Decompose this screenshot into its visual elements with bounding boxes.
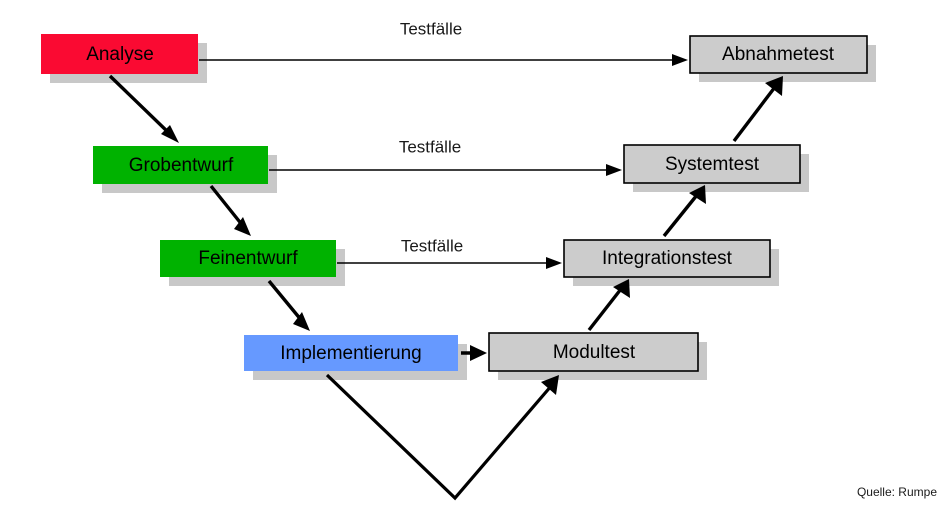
box-feinentwurf-label: Feinentwurf [198, 248, 298, 269]
edge-label-testfaelle-2: Testfälle [399, 137, 461, 156]
edge-line [664, 195, 697, 236]
box-analyse[interactable]: Analyse [41, 34, 198, 74]
edge-label-testfaelle-3: Testfälle [401, 236, 463, 255]
box-modultest-label: Modultest [553, 342, 636, 363]
box-grobentwurf-label: Grobentwurf [129, 155, 234, 176]
vmodel-diagram: Analyse Grobentwurf Feinentwurf Implemen… [0, 0, 951, 517]
box-systemtest[interactable]: Systemtest [624, 145, 800, 183]
box-shadow-layer [50, 43, 876, 380]
arrow-head-icon [470, 345, 487, 361]
right-branch-boxes: Abnahmetest Systemtest Integrationstest … [489, 36, 867, 371]
arrow-head-icon [672, 54, 688, 66]
source-note: Quelle: Rumpe [857, 485, 937, 499]
box-feinentwurf[interactable]: Feinentwurf [160, 240, 336, 277]
arrow-head-icon [606, 164, 622, 176]
edge-integrationstest-to-systemtest [664, 185, 706, 236]
vee-polyline [327, 375, 552, 498]
test-flow-edge-layer [589, 76, 783, 330]
edge-feinentwurf-to-integrationstest [337, 257, 562, 269]
box-implementierung-label: Implementierung [280, 343, 422, 364]
box-systemtest-label: Systemtest [665, 154, 760, 175]
box-integrationstest[interactable]: Integrationstest [564, 240, 770, 277]
edge-analyse-to-abnahmetest [199, 54, 688, 66]
box-abnahmetest[interactable]: Abnahmetest [690, 36, 867, 73]
edge-grobentwurf-to-systemtest [269, 164, 622, 176]
phase-flow-edge-layer [110, 76, 487, 361]
edge-systemtest-to-abnahmetest [734, 76, 783, 141]
left-branch-boxes: Analyse Grobentwurf Feinentwurf Implemen… [41, 34, 458, 371]
edge-implementierung-to-modultest-vee [327, 375, 559, 498]
edge-line [734, 87, 775, 141]
edge-label-layer: Testfälle Testfälle Testfälle [399, 19, 463, 255]
box-integrationstest-label: Integrationstest [602, 248, 733, 269]
edge-line [589, 289, 621, 330]
box-modultest[interactable]: Modultest [489, 333, 698, 371]
arrow-head-icon [546, 257, 562, 269]
box-analyse-label: Analyse [86, 44, 154, 65]
edge-line [269, 281, 302, 321]
edge-label-testfaelle-1: Testfälle [400, 19, 462, 38]
edge-grobentwurf-to-feinentwurf [211, 186, 251, 236]
edge-modultest-to-integrationstest [589, 279, 630, 330]
edge-line [110, 76, 170, 134]
box-implementierung[interactable]: Implementierung [244, 335, 458, 371]
box-grobentwurf[interactable]: Grobentwurf [93, 146, 268, 184]
box-abnahmetest-label: Abnahmetest [722, 44, 835, 65]
vmodel-canvas: Analyse Grobentwurf Feinentwurf Implemen… [0, 0, 951, 517]
edge-analyse-to-grobentwurf [110, 76, 179, 143]
edge-feinentwurf-to-implementierung [269, 281, 310, 331]
